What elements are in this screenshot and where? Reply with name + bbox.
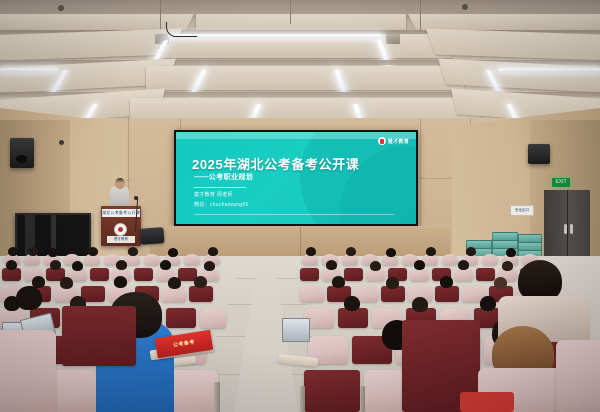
slide-wechat: 微信：chuchaiwang66: [194, 201, 249, 208]
audience-head: [386, 277, 399, 289]
slide-bottom-rule: [194, 214, 394, 215]
slide-presenter: 楚才教育 周老师: [194, 191, 233, 198]
audience-head: [204, 261, 215, 271]
audience-head: [466, 247, 476, 256]
audience-head: [326, 260, 337, 270]
audience-head: [60, 277, 73, 289]
ceiling-light-tube: [498, 68, 600, 72]
ceiling-camera-icon: [59, 140, 64, 145]
exit-sign-icon: EXIT: [552, 178, 570, 187]
auditorium-seat: [134, 268, 153, 281]
audience-head: [8, 247, 18, 256]
lecture-hall-photo: EXIT 安全出口 楚才教育 2025年湖北公考备考公开课 ——公考职业规划 楚…: [0, 0, 600, 412]
auditorium-seat: [90, 268, 109, 281]
auditorium-seat: [442, 254, 458, 265]
audience-head: [50, 260, 61, 270]
podium-banner: 湖北公考备考公开课: [102, 209, 140, 217]
audience-head: [6, 260, 17, 270]
brand-logo: 楚才教育: [378, 137, 409, 145]
auditorium-seat: [556, 340, 600, 412]
speaker-head: [115, 178, 125, 189]
projection-screen: 楚才教育 2025年湖北公考备考公开课 ——公考职业规划 楚才教育 周老师 微信…: [174, 130, 418, 226]
auditorium-seat: [482, 254, 498, 265]
wall-sign-label: 安全出口: [511, 206, 533, 215]
audience-head: [72, 261, 83, 271]
audience-head: [386, 248, 396, 257]
audience-head: [370, 261, 381, 271]
audience-head: [494, 277, 507, 289]
audience-head: [48, 248, 58, 257]
audience-head: [414, 260, 425, 270]
audience-head: [16, 286, 42, 310]
seat-leg: [360, 386, 365, 412]
brand-mark-icon: [378, 137, 386, 145]
seat-leg: [300, 386, 305, 412]
audience-head: [208, 247, 218, 256]
audience-head: [128, 247, 138, 256]
ceiling-light-tube: [168, 34, 382, 38]
wall-speaker-icon: [10, 138, 34, 168]
auditorium-seat: [144, 254, 160, 265]
auditorium-seat: [189, 286, 213, 302]
audience-head: [116, 260, 127, 270]
audience-head: [480, 296, 496, 311]
speaker-torso: [110, 186, 129, 208]
auditorium-seat: [200, 308, 226, 328]
auditorium-seat: [300, 286, 324, 302]
auditorium-seat: [344, 268, 363, 281]
microphone-icon: [134, 196, 138, 200]
auditorium-seat: [300, 268, 319, 281]
ceiling: [0, 0, 600, 132]
slide-subtitle: ——公考职业规划: [194, 172, 253, 182]
audience-head: [160, 260, 171, 270]
audience-head: [28, 247, 38, 256]
ceiling-light-tube: [0, 68, 58, 72]
slide-title: 2025年湖北公考备考公开课: [192, 154, 359, 173]
audience-head: [332, 276, 345, 288]
student-laptop: [282, 318, 310, 342]
audience-head: [168, 277, 181, 289]
auditorium-seat: [304, 370, 360, 412]
audience-head: [440, 276, 453, 288]
wall-speaker-icon: [528, 144, 550, 164]
audience-head: [458, 260, 469, 270]
auditorium-seat: [184, 254, 200, 265]
audience-head: [306, 247, 316, 256]
podium-emblem-icon: [114, 223, 127, 236]
exit-sign-label: EXIT: [555, 180, 566, 185]
slide-divider: [194, 187, 246, 188]
audience-head: [88, 247, 98, 256]
ceiling-camera-icon: [462, 4, 468, 10]
audience-head: [346, 247, 356, 256]
seat-leg: [214, 382, 220, 412]
red-chair-accent: [460, 392, 514, 412]
auditorium-seat: [0, 330, 56, 412]
auditorium-seat: [338, 308, 368, 328]
brand-logo-text: 楚才教育: [388, 138, 409, 145]
audience-head: [426, 247, 436, 256]
auditorium-seat: [166, 308, 196, 328]
audience-head: [502, 261, 513, 271]
slide-surface: 楚才教育 2025年湖北公考备考公开课 ——公考职业规划 楚才教育 周老师 微信…: [176, 132, 416, 224]
audience-head: [168, 248, 178, 257]
audience-head: [194, 276, 207, 288]
podium-banner-text: 湖北公考备考公开课: [102, 209, 140, 217]
audience-head: [506, 248, 516, 257]
audience-head: [344, 296, 360, 311]
wall-sign: 安全出口: [510, 205, 534, 216]
audience-head: [412, 297, 428, 312]
audience-head: [114, 276, 127, 288]
auditorium-seat: [62, 306, 136, 366]
auditorium-seat: [476, 268, 495, 281]
auditorium-seat: [435, 286, 459, 302]
ceiling-camera-icon: [58, 5, 64, 11]
